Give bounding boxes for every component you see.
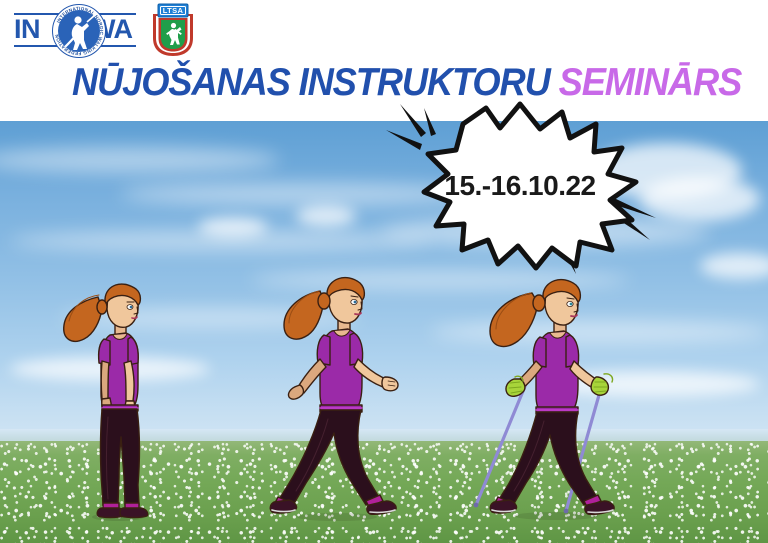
cloud-wisp	[0, 147, 280, 173]
inwa-text-left: IN	[14, 16, 40, 43]
inwa-ring-text: INTERNATIONAL NORDIC WALKING FEDERATION	[53, 5, 105, 57]
figure-standing	[58, 277, 168, 521]
figure-nordic-walking	[470, 269, 642, 521]
glove-front	[591, 374, 612, 395]
figure-walking	[262, 271, 412, 521]
page-title: NŪJOŠANAS INSTRUKTORU SEMINĀRS	[72, 62, 714, 104]
svg-text:LTSA: LTSA	[163, 6, 184, 15]
cloud-puff	[700, 253, 768, 279]
glove-rear	[506, 376, 525, 396]
inwa-logo: IN WA INTERNATIONAL NORDIC WALKING FED	[12, 4, 138, 56]
date-badge: 15.-16.10.22	[380, 170, 660, 202]
inwa-emblem-circle: INTERNATIONAL NORDIC WALKING FEDERATION	[52, 4, 106, 58]
title-main: NŪJOŠANAS INSTRUKTORU	[72, 61, 559, 104]
title-accent: SEMINĀRS	[559, 61, 742, 104]
date-speech-bubble: 15.-16.10.22	[380, 100, 660, 275]
svg-text:INTERNATIONAL NORDIC WALKING F: INTERNATIONAL NORDIC WALKING FEDERATION	[54, 6, 104, 56]
ltsa-logo: LTSA	[149, 2, 197, 58]
cloud-puff	[198, 217, 268, 237]
poster-canvas: IN WA INTERNATIONAL NORDIC WALKING FED	[0, 0, 768, 543]
cloud-puff	[296, 205, 356, 227]
